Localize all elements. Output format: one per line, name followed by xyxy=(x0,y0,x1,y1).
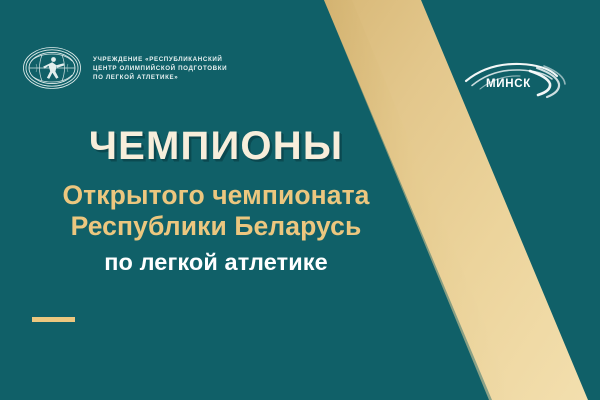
org-line-3: ПО ЛЕГКОЙ АТЛЕТИКЕ» xyxy=(93,74,227,81)
org-line-1: УЧРЕЖДЕНИЕ «РЕСПУБЛИКАНСКИЙ xyxy=(93,56,227,63)
gold-dash-rule-icon xyxy=(32,317,75,322)
poster-canvas: УЧРЕЖДЕНИЕ «РЕСПУБЛИКАНСКИЙ ЦЕНТР ОЛИМПИ… xyxy=(0,0,600,400)
subtitle-line-2: Республики Беларусь xyxy=(0,211,432,242)
minsk-swoosh-logo-icon: МИНСК xyxy=(458,58,566,102)
subtitle-line-3: по легкой атлетике xyxy=(0,248,432,276)
organisation-name-block: УЧРЕЖДЕНИЕ «РЕСПУБЛИКАНСКИЙ ЦЕНТР ОЛИМПИ… xyxy=(93,55,227,81)
organisation-header: УЧРЕЖДЕНИЕ «РЕСПУБЛИКАНСКИЙ ЦЕНТР ОЛИМПИ… xyxy=(22,44,227,92)
minsk-logo-label: МИНСК xyxy=(486,78,531,90)
subtitle-line-1: Открытого чемпионата xyxy=(0,180,432,211)
org-line-2: ЦЕНТР ОЛИМПИЙСКОЙ ПОДГОТОВКИ xyxy=(93,65,227,72)
headline-block: ЧЕМПИОНЫ Открытого чемпионата Республики… xyxy=(0,126,432,276)
olympic-athletics-center-emblem-icon xyxy=(22,44,82,92)
page-title: ЧЕМПИОНЫ xyxy=(0,126,432,166)
